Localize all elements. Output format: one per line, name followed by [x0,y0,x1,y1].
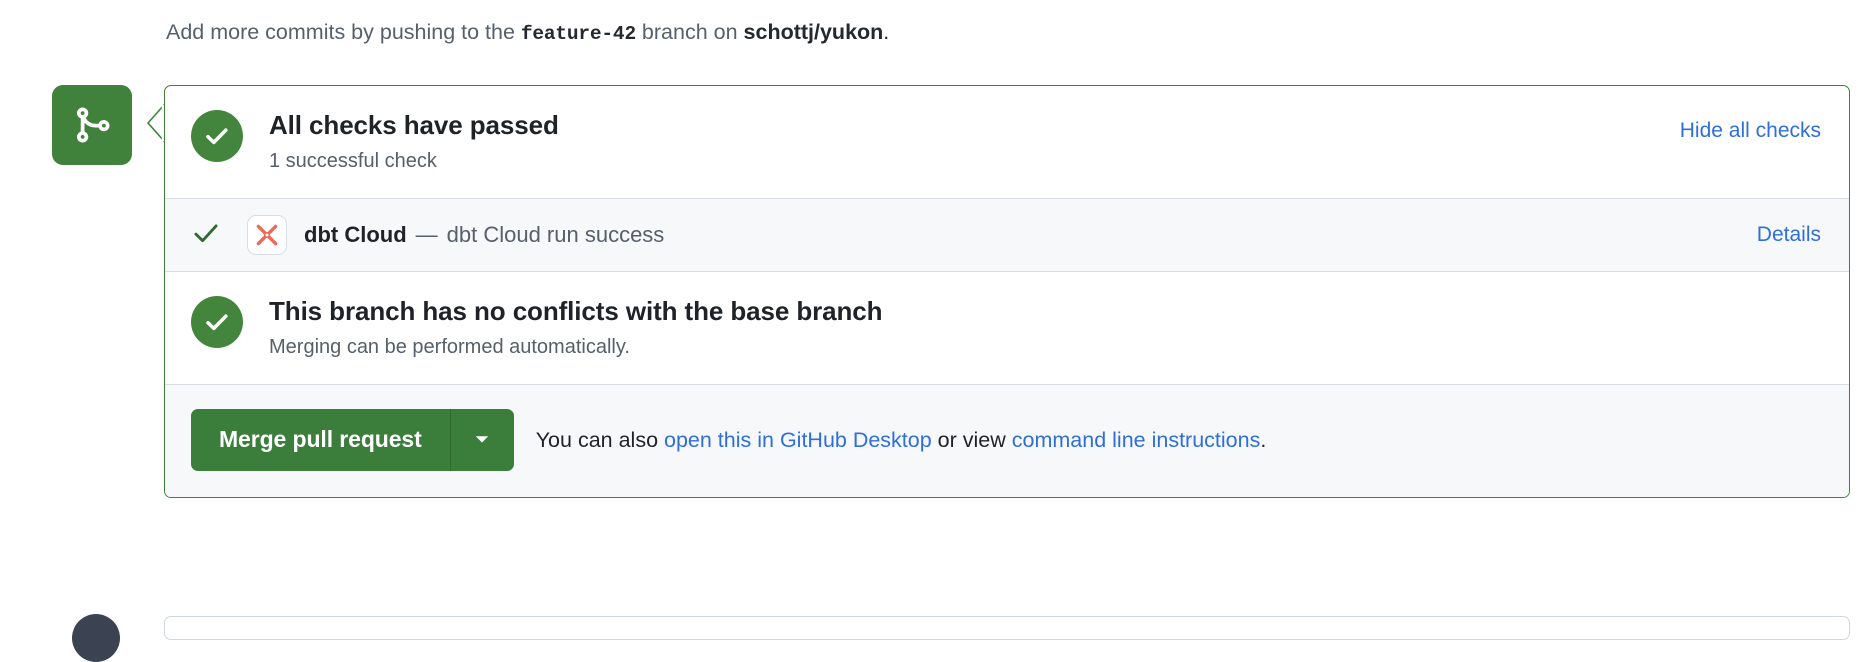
merge-box: All checks have passed 1 successful chec… [164,85,1850,498]
chevron-down-icon [471,428,493,453]
merge-alternatives-hint: You can also open this in GitHub Desktop… [536,425,1267,455]
next-timeline-item [164,616,1850,640]
branch-name: feature-42 [521,23,636,45]
checks-summary-text: All checks have passed 1 successful chec… [269,108,1680,176]
check-circle-icon [191,110,243,162]
checks-summary-icon-col [191,108,269,162]
avatar [72,614,120,662]
merge-conflicts-row: This branch has no conflicts with the ba… [165,272,1849,385]
check-description: dbt Cloud run success [447,220,665,250]
conflicts-title: This branch has no conflicts with the ba… [269,294,1821,328]
pull-request-merge-section: Add more commits by pushing to the featu… [0,0,1868,626]
conflicts-subtitle: Merging can be performed automatically. [269,332,1821,362]
merge-state-badge [52,85,132,165]
merge-hint-tail: . [1260,428,1266,452]
checks-summary-row: All checks have passed 1 successful chec… [165,86,1849,199]
add-commits-hint-middle: branch on [636,20,744,44]
add-commits-hint: Add more commits by pushing to the featu… [166,17,889,49]
merge-options-dropdown-button[interactable] [450,409,514,471]
merge-box-connector [145,104,165,146]
add-commits-hint-lead: Add more commits by pushing to the [166,20,521,44]
merge-hint-middle: or view [932,428,1012,452]
checks-summary-subtitle: 1 successful check [269,146,1680,176]
merge-button-group: Merge pull request [191,409,514,471]
check-app-name: dbt Cloud [304,220,407,250]
check-separator: — [416,220,438,250]
add-commits-hint-tail: . [883,20,889,44]
conflicts-text: This branch has no conflicts with the ba… [269,294,1821,362]
check-details-link[interactable]: Details [1757,220,1821,250]
merge-actions-row: Merge pull request You can also open thi… [165,385,1849,497]
conflicts-icon-col [191,294,269,348]
merge-hint-lead: You can also [536,428,664,452]
check-circle-icon [191,296,243,348]
hide-all-checks-link[interactable]: Hide all checks [1680,108,1821,146]
git-merge-icon [72,105,112,145]
dbt-cloud-logo [247,215,287,255]
repository-name: schottj/yukon [744,20,884,44]
merge-pull-request-button[interactable]: Merge pull request [191,409,450,471]
check-status-icon-col [191,218,247,253]
github-desktop-link[interactable]: open this in GitHub Desktop [664,428,932,452]
table-row: dbt Cloud — dbt Cloud run success Detail… [165,199,1849,272]
check-icon [191,218,221,253]
checks-summary-title: All checks have passed [269,108,1680,142]
command-line-instructions-link[interactable]: command line instructions [1012,428,1261,452]
